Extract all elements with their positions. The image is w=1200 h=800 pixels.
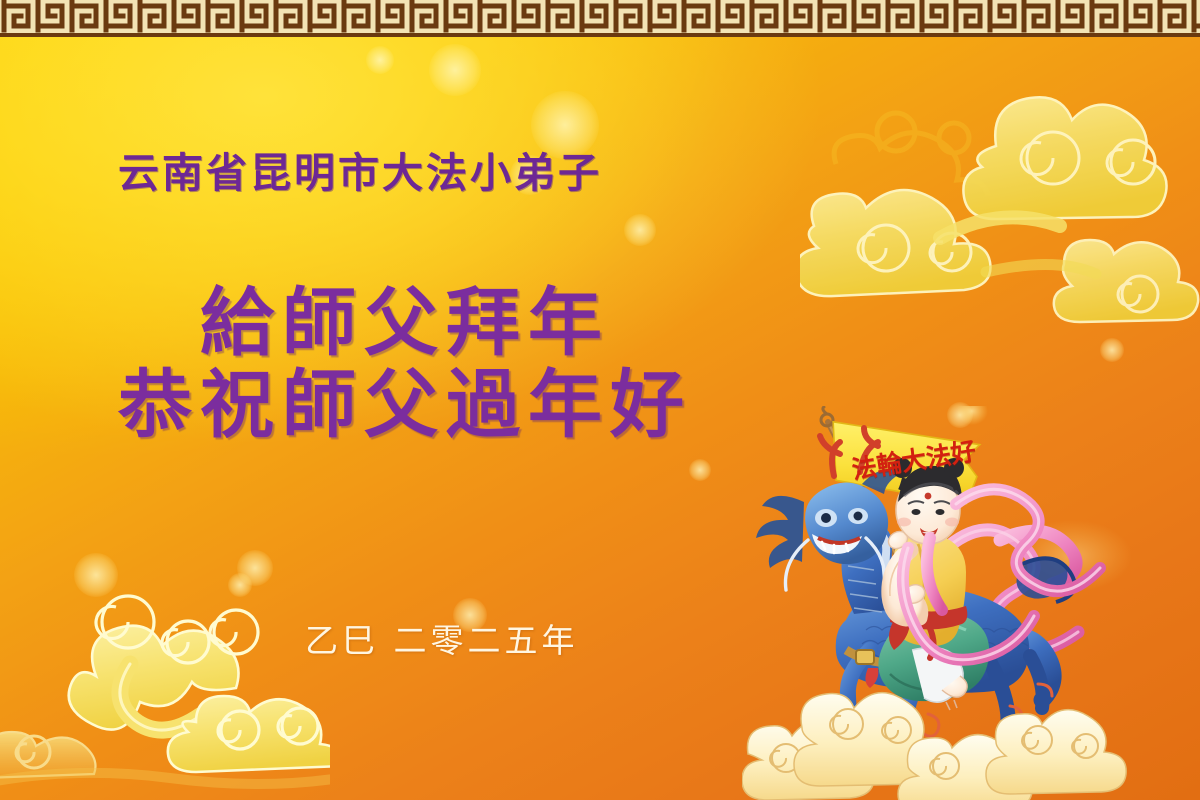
- bokeh-speck: [624, 214, 656, 246]
- greeting-line-2: 恭祝師父過年好: [118, 345, 692, 452]
- child-riding-qilin-illustration: [742, 406, 1142, 800]
- bokeh-speck: [228, 573, 252, 597]
- greek-key-border: [0, 0, 1200, 37]
- new-year-greeting-card: 云南省昆明市大法小弟子 給師父拜年 恭祝師父過年好 乙巳 二零二五年: [0, 0, 1200, 800]
- sender-line: 云南省昆明市大法小弟子: [118, 139, 602, 199]
- base-clouds: [742, 693, 1126, 800]
- cloud-bottom-left: [0, 560, 330, 800]
- bokeh-speck: [366, 46, 394, 74]
- cloud-top-right: [800, 40, 1200, 340]
- bokeh-speck: [689, 459, 711, 481]
- bokeh-speck: [1100, 338, 1124, 362]
- cloud-top-right-ghost: [818, 46, 1078, 196]
- bokeh-speck: [74, 553, 118, 597]
- date-line: 乙巳 二零二五年: [305, 614, 579, 662]
- bokeh-speck: [429, 44, 481, 96]
- bokeh-speck: [237, 550, 273, 586]
